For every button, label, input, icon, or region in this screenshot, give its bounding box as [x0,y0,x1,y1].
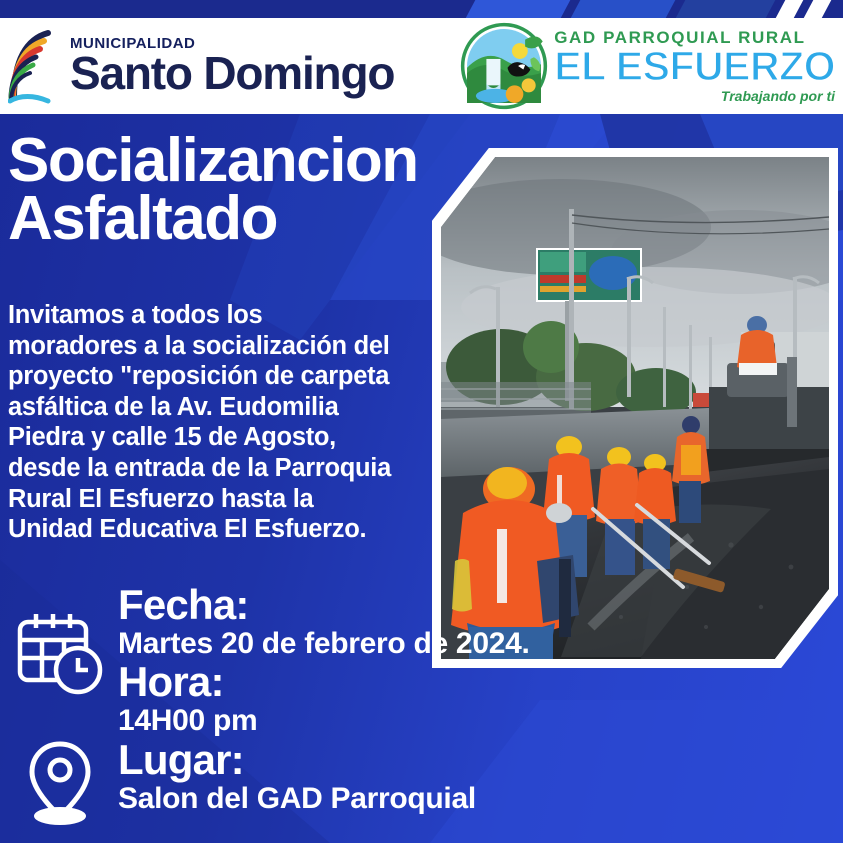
accent-stripe [465,0,571,20]
date-value: Martes 20 de febrero de 2024. [118,627,588,661]
municipality-text: MUNICIPALIDAD Santo Domingo [70,36,394,96]
accent-stripe-white [803,0,832,20]
place-value: Salon del GAD Parroquial [118,782,588,816]
body-paragraph: Invitamos a todos los moradores a la soc… [8,300,393,545]
accent-stripe [570,0,676,20]
gad-line2: EL ESFUERZO [554,46,835,87]
title-line-1: Socializancion [8,132,478,190]
municipality-name: Santo Domingo [70,52,394,96]
accent-stripe [675,0,776,20]
time-label: Hora: [118,661,588,704]
calendar-clock-icon [14,608,106,700]
municipality-logo: MUNICIPALIDAD Santo Domingo [0,27,394,105]
event-details: Fecha: Martes 20 de febrero de 2024. Hor… [118,584,588,816]
map-pin-icon [24,740,96,826]
poster-root: MUNICIPALIDAD Santo Domingo [0,0,843,843]
gad-text: GAD PARROQUIAL RURAL EL ESFUERZO Trabaja… [554,29,835,103]
time-value: 14H00 pm [118,704,588,738]
rainbow-fan-icon [8,27,66,105]
page-title: Socializancion Asfaltado [8,132,478,247]
date-label: Fecha: [118,584,588,627]
top-accent-bar [0,0,843,20]
gad-circular-emblem-icon [460,22,548,110]
accent-stripe-white [775,0,804,20]
gad-logo: GAD PARROQUIAL RURAL EL ESFUERZO Trabaja… [460,22,835,110]
gad-tagline: Trabajando por ti [554,89,835,103]
header-bar: MUNICIPALIDAD Santo Domingo [0,18,843,114]
place-label: Lugar: [118,739,588,782]
title-line-2: Asfaltado [8,190,478,248]
